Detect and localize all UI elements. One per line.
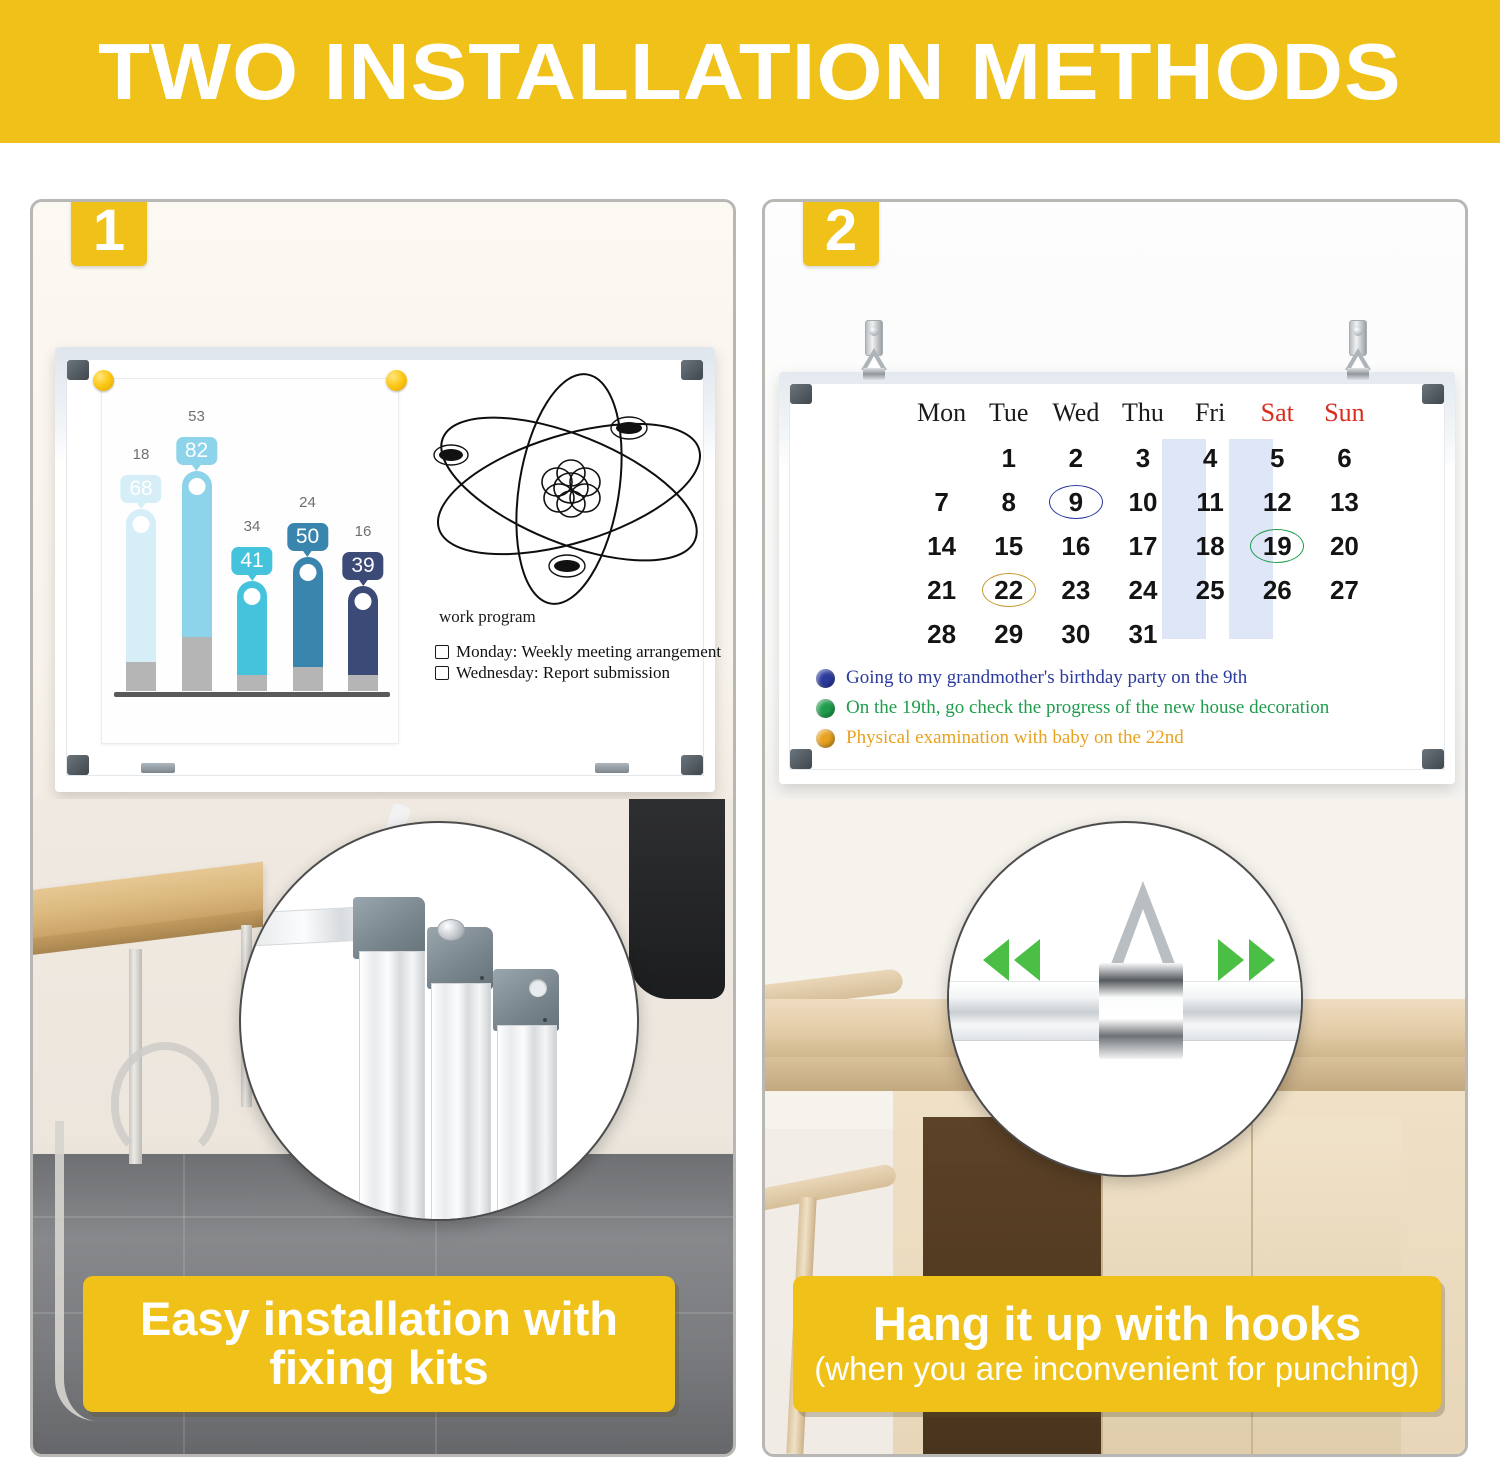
caption-line-2: fixing kits bbox=[269, 1344, 488, 1393]
calendar-note-text: Going to my grandmother's birthday party… bbox=[846, 667, 1247, 689]
bar-top-label: 16 bbox=[355, 523, 372, 540]
bar-top-label: 18 bbox=[133, 446, 150, 463]
calendar-notes-list: Going to my grandmother's birthday party… bbox=[816, 667, 1436, 757]
frame-corner-icon bbox=[67, 360, 89, 380]
checklist-item[interactable]: Wednesday: Report submission bbox=[435, 663, 725, 683]
page-title: TWO INSTALLATION METHODS bbox=[98, 26, 1402, 118]
scene-whiteboard-wall-left: 18685382344124501639 bbox=[33, 202, 733, 807]
frame-corner-icon bbox=[790, 384, 812, 404]
calendar-weekday-header: Tue bbox=[975, 398, 1042, 437]
chair bbox=[111, 1042, 219, 1162]
calendar-note-text: Physical examination with baby on the 22… bbox=[846, 727, 1184, 749]
bar-top-label: 53 bbox=[188, 408, 205, 425]
caption-line-1: Hang it up with hooks bbox=[873, 1300, 1361, 1349]
panel-badge-1: 1 bbox=[71, 199, 147, 266]
calendar-day-number: 14 bbox=[927, 531, 956, 561]
calendar-day-cell[interactable]: 28 bbox=[908, 613, 975, 657]
bar-column: 1639 bbox=[346, 423, 380, 691]
calendar-header-row: MonTueWedThuFriSatSun bbox=[908, 398, 1378, 437]
bar-shape bbox=[237, 581, 267, 691]
bar-base-segment bbox=[348, 675, 378, 691]
calendar-day-number: 13 bbox=[1330, 487, 1359, 517]
calendar-day-cell[interactable]: 10 bbox=[1109, 481, 1176, 525]
bar-shape bbox=[182, 471, 212, 691]
bar-dot-icon bbox=[355, 593, 372, 610]
calendar-day-cell[interactable]: 9 bbox=[1042, 481, 1109, 525]
wall-hook-icon bbox=[1345, 320, 1371, 382]
bar-dot-icon bbox=[299, 564, 316, 581]
calendar-day-cell[interactable]: 6 bbox=[1311, 437, 1378, 481]
magnet-dot-icon bbox=[816, 669, 835, 688]
calendar-day-cell[interactable]: 3 bbox=[1109, 437, 1176, 481]
calendar-day-number: 19 bbox=[1263, 531, 1292, 561]
calendar-day-cell[interactable]: 16 bbox=[1042, 525, 1109, 569]
calendar-day-cell[interactable]: 19 bbox=[1244, 525, 1311, 569]
bar-column: 5382 bbox=[180, 423, 214, 691]
frame-corner-icon bbox=[681, 360, 703, 380]
magnet-icon bbox=[93, 370, 114, 391]
bar-value-bubble: 41 bbox=[231, 547, 272, 575]
calendar-day-number: 4 bbox=[1203, 443, 1217, 473]
checkbox-icon[interactable] bbox=[435, 645, 449, 659]
bar-dot-icon bbox=[133, 516, 150, 533]
calendar-day-cell[interactable]: 20 bbox=[1311, 525, 1378, 569]
bar-shape bbox=[348, 586, 378, 691]
calendar-day-number: 9 bbox=[1069, 487, 1083, 517]
calendar-day-number: 1 bbox=[1001, 443, 1015, 473]
calendar-day-cell[interactable]: 23 bbox=[1042, 569, 1109, 613]
frame-clip-icon bbox=[595, 763, 629, 773]
calendar-day-cell[interactable]: 2 bbox=[1042, 437, 1109, 481]
page-header: TWO INSTALLATION METHODS bbox=[0, 0, 1500, 143]
calendar-note-text: On the 19th, go check the progress of th… bbox=[846, 697, 1329, 719]
bar-base-segment bbox=[182, 637, 212, 691]
calendar-day-number: 7 bbox=[934, 487, 948, 517]
calendar-note: Going to my grandmother's birthday party… bbox=[816, 667, 1436, 689]
calendar-day-number: 2 bbox=[1069, 443, 1083, 473]
calendar-day-cell[interactable]: 30 bbox=[1042, 613, 1109, 657]
calendar-day-cell[interactable]: 11 bbox=[1177, 481, 1244, 525]
caption-banner-left: Easy installation with fixing kits bbox=[83, 1276, 675, 1412]
caption-line-1: Easy installation with bbox=[140, 1295, 618, 1344]
bar-top-label: 34 bbox=[244, 518, 261, 535]
calendar-day-cell[interactable]: 5 bbox=[1244, 437, 1311, 481]
zoom-inset-hook-rail bbox=[947, 821, 1303, 1177]
calendar-day-number: 27 bbox=[1330, 575, 1359, 605]
work-program-title: work program bbox=[439, 607, 536, 627]
calendar-empty-cell bbox=[1244, 613, 1311, 657]
calendar-day-number: 5 bbox=[1270, 443, 1284, 473]
bar-shape bbox=[293, 557, 323, 691]
calendar-day-cell[interactable]: 7 bbox=[908, 481, 975, 525]
calendar-days-grid: 1234567891011121314151617181920212223242… bbox=[908, 437, 1378, 657]
frame-corner-icon bbox=[1422, 749, 1444, 769]
magnet-icon bbox=[386, 370, 407, 391]
calendar-day-cell[interactable]: 4 bbox=[1177, 437, 1244, 481]
checklist-item-label: Monday: Weekly meeting arrangement bbox=[456, 642, 721, 662]
calendar-day-cell[interactable]: 13 bbox=[1311, 481, 1378, 525]
bar-chart-axis bbox=[114, 692, 390, 697]
bar-column: 1868 bbox=[124, 423, 158, 691]
dark-object bbox=[629, 799, 725, 999]
magnet-dot-icon bbox=[816, 699, 835, 718]
calendar-day-number: 20 bbox=[1330, 531, 1359, 561]
calendar-day-number: 23 bbox=[1061, 575, 1090, 605]
calendar-day-cell[interactable]: 1 bbox=[975, 437, 1042, 481]
frame-corner-icon bbox=[681, 755, 703, 775]
calendar-day-cell[interactable]: 31 bbox=[1109, 613, 1176, 657]
frame-corner-icon bbox=[790, 749, 812, 769]
work-program-checklist: Monday: Weekly meeting arrangementWednes… bbox=[435, 642, 725, 684]
whiteboard-left-surface: 18685382344124501639 bbox=[66, 359, 704, 776]
calendar-day-cell[interactable]: 12 bbox=[1244, 481, 1311, 525]
chart-paper: 18685382344124501639 bbox=[101, 378, 399, 744]
calendar: MonTueWedThuFriSatSun 123456789101112131… bbox=[908, 398, 1378, 657]
bar-value-bubble: 50 bbox=[287, 523, 328, 551]
bar-value-bubble: 68 bbox=[120, 475, 161, 503]
panel-badge-2: 2 bbox=[803, 199, 879, 266]
calendar-day-number: 3 bbox=[1136, 443, 1150, 473]
calendar-day-cell[interactable]: 24 bbox=[1109, 569, 1176, 613]
calendar-day-number: 22 bbox=[994, 575, 1023, 605]
calendar-weekday-header: Mon bbox=[908, 398, 975, 437]
calendar-note: On the 19th, go check the progress of th… bbox=[816, 697, 1436, 719]
calendar-day-number: 15 bbox=[994, 531, 1023, 561]
calendar-weekday-header: Sun bbox=[1311, 398, 1378, 437]
calendar-day-cell[interactable]: 22 bbox=[975, 569, 1042, 613]
calendar-day-number: 30 bbox=[1061, 619, 1090, 649]
calendar-weekday-header: Sat bbox=[1244, 398, 1311, 437]
checklist-item[interactable]: Monday: Weekly meeting arrangement bbox=[435, 642, 725, 662]
frame-corner-icon bbox=[1422, 384, 1444, 404]
calendar-day-cell[interactable]: 18 bbox=[1177, 525, 1244, 569]
calendar-day-number: 31 bbox=[1129, 619, 1158, 649]
checklist-item-label: Wednesday: Report submission bbox=[456, 663, 670, 683]
calendar-note: Physical examination with baby on the 22… bbox=[816, 727, 1436, 749]
calendar-empty-cell bbox=[908, 437, 975, 481]
triangle-hanger-inner bbox=[1121, 909, 1165, 969]
calendar-day-number: 21 bbox=[927, 575, 956, 605]
calendar-day-number: 17 bbox=[1129, 531, 1158, 561]
panel-method-1: 1 18685382344124501639 bbox=[30, 199, 736, 1457]
calendar-day-number: 12 bbox=[1263, 487, 1292, 517]
bar-dot-icon bbox=[188, 478, 205, 495]
frame-clip-icon bbox=[141, 763, 175, 773]
bar-shape bbox=[126, 509, 156, 691]
calendar-empty-cell bbox=[1311, 613, 1378, 657]
bar-dot-icon bbox=[244, 588, 261, 605]
calendar-day-number: 16 bbox=[1061, 531, 1090, 561]
atom-sketch-icon bbox=[419, 370, 719, 608]
calendar-day-number: 8 bbox=[1001, 487, 1015, 517]
calendar-weekday-header: Thu bbox=[1109, 398, 1176, 437]
calendar-weekday-header: Wed bbox=[1042, 398, 1109, 437]
bar-column: 3441 bbox=[235, 423, 269, 691]
caption-banner-right: Hang it up with hooks (when you are inco… bbox=[793, 1276, 1441, 1412]
calendar-day-cell[interactable]: 8 bbox=[975, 481, 1042, 525]
arrows-right-icon bbox=[1218, 939, 1275, 981]
calendar-day-number: 6 bbox=[1337, 443, 1351, 473]
calendar-empty-cell bbox=[1177, 613, 1244, 657]
bar-value-bubble: 39 bbox=[342, 552, 383, 580]
magnet-dot-icon bbox=[816, 729, 835, 748]
calendar-day-cell[interactable]: 14 bbox=[908, 525, 975, 569]
bar-chart: 18685382344124501639 bbox=[102, 379, 398, 743]
frame-corner-icon bbox=[67, 755, 89, 775]
bar-base-segment bbox=[293, 667, 323, 691]
calendar-day-cell[interactable]: 15 bbox=[975, 525, 1042, 569]
bar-base-segment bbox=[237, 675, 267, 691]
wall-hook-icon bbox=[861, 320, 887, 382]
bar-base-segment bbox=[126, 662, 156, 691]
calendar-day-number: 10 bbox=[1129, 487, 1158, 517]
whiteboard-right-surface: MonTueWedThuFriSatSun 123456789101112131… bbox=[789, 383, 1445, 770]
calendar-day-cell[interactable]: 27 bbox=[1311, 569, 1378, 613]
calendar-day-number: 24 bbox=[1129, 575, 1158, 605]
bar-value-bubble: 82 bbox=[176, 437, 217, 465]
calendar-day-number: 11 bbox=[1196, 487, 1224, 517]
hook-slider bbox=[1099, 963, 1183, 1059]
calendar-day-cell[interactable]: 29 bbox=[975, 613, 1042, 657]
calendar-day-number: 29 bbox=[994, 619, 1023, 649]
whiteboard-right: MonTueWedThuFriSatSun 123456789101112131… bbox=[779, 372, 1455, 784]
calendar-weekday-header: Fri bbox=[1177, 398, 1244, 437]
chair-armrest bbox=[765, 1163, 898, 1213]
bar-chart-bars: 18685382344124501639 bbox=[124, 423, 380, 691]
calendar-day-number: 25 bbox=[1196, 575, 1225, 605]
calendar-day-cell[interactable]: 26 bbox=[1244, 569, 1311, 613]
calendar-day-number: 28 bbox=[927, 619, 956, 649]
scene-whiteboard-wall-right: MonTueWedThuFriSatSun 123456789101112131… bbox=[765, 202, 1465, 807]
arrows-left-icon bbox=[983, 939, 1040, 981]
bar-top-label: 24 bbox=[299, 494, 316, 511]
panel-method-2: 2 MonTueWedThuFriSatSun 1234567891011121… bbox=[762, 199, 1468, 1457]
bar-column: 2450 bbox=[291, 423, 325, 691]
calendar-day-cell[interactable]: 25 bbox=[1177, 569, 1244, 613]
caption-subtext: (when you are inconvenient for punching) bbox=[814, 1351, 1419, 1388]
zoom-inset-fixing-kit bbox=[239, 821, 639, 1221]
calendar-day-cell[interactable]: 17 bbox=[1109, 525, 1176, 569]
calendar-day-cell[interactable]: 21 bbox=[908, 569, 975, 613]
whiteboard-left: 18685382344124501639 bbox=[55, 347, 715, 792]
calendar-day-number: 26 bbox=[1263, 575, 1292, 605]
calendar-day-number: 18 bbox=[1196, 531, 1225, 561]
checkbox-icon[interactable] bbox=[435, 666, 449, 680]
